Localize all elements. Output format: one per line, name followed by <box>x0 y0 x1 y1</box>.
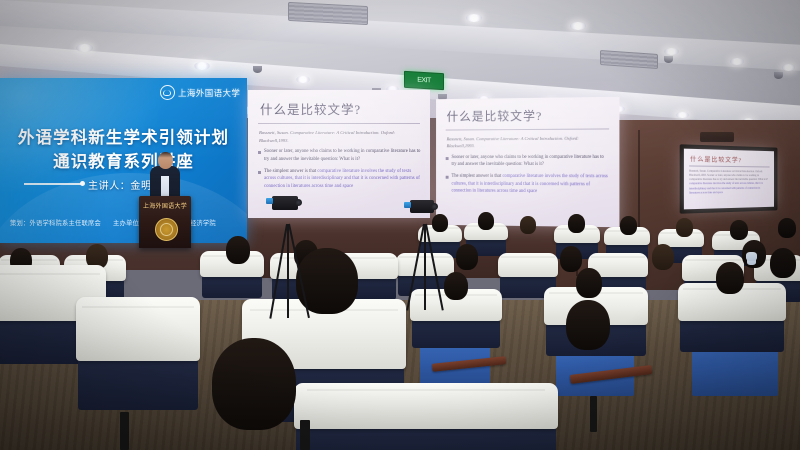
banner-footer-left: 策划：外语学科院系主任联席会 <box>10 218 101 227</box>
slide-citation: Bassnett, Susan. Comparative Literature:… <box>436 129 619 150</box>
downlight <box>570 22 586 30</box>
audience-head <box>520 216 536 234</box>
audience-head <box>226 236 250 264</box>
camera-screen <box>404 202 411 208</box>
downlight <box>664 48 679 55</box>
hvac-vent-right <box>600 50 658 69</box>
downlight <box>782 64 795 71</box>
slide-bullet-2: The simplest answer is that comparative … <box>248 164 430 191</box>
projection-screen-right: 什么是比较文学? Bassnett, Susan. Comparative Li… <box>436 97 619 227</box>
audience-head <box>620 216 637 235</box>
exit-sign: EXIT <box>404 71 444 90</box>
video-camera-right[interactable] <box>410 200 434 213</box>
audience-head <box>778 218 796 238</box>
slide-bullet-2-text: The simplest answer is that comparative … <box>264 168 421 191</box>
audience-head <box>676 218 693 237</box>
camera-tripod-left <box>276 206 316 316</box>
wall-monitor-screen: 什么是比较文学? Bassnett, Susan. Comparative Li… <box>684 149 774 210</box>
audience-head <box>652 244 674 270</box>
bullet-marker-icon <box>258 151 261 154</box>
monitor-mount <box>700 132 734 142</box>
camera-screen <box>266 198 273 204</box>
slide-bullet-2-text: The simplest answer is that comparative … <box>451 173 610 197</box>
camera-lens-icon <box>295 199 302 206</box>
downlight <box>296 76 310 83</box>
seat-near-right <box>680 286 784 352</box>
lectern-seal-icon <box>155 218 178 241</box>
banner-title-line-2: 通识教育系列讲座 <box>0 148 247 172</box>
slide-bullet-2-small: comparative literature involves the stud… <box>689 182 763 194</box>
banner-title-line-1: 外语学科新生学术引领计划 <box>0 124 247 148</box>
slide-bullet-1: Sooner or later, anyone who claims to be… <box>436 150 619 170</box>
slide-title: 什么是比较文学? <box>684 149 774 165</box>
stage-banner: 上海外国语大学 外语学科新生学术引领计划 通识教育系列讲座 主讲人：金明 策划：… <box>0 78 247 243</box>
seat-foreground <box>296 386 556 450</box>
audience-head <box>576 268 602 298</box>
lectern-nameplate-text: 上海外国语大学 <box>143 201 187 210</box>
lectern-nameplate: 上海外国语大学 <box>145 201 185 210</box>
banner-footer: 策划：外语学科院系主任联席会 主办单位：教 日本文化经济学院 <box>10 218 240 227</box>
slide-bullet-1-text: Sooner or later, anyone who claims to be… <box>451 154 610 169</box>
bullet-marker-icon <box>446 157 449 160</box>
slide-citation: Bassnett, Susan. Comparative Literature:… <box>248 124 430 144</box>
ceiling-speaker-1 <box>253 66 262 73</box>
slide-title: 什么是比较文学? <box>248 90 430 118</box>
university-name: 上海外国语大学 <box>178 87 240 99</box>
bullet-2-plain: The simplest answer is that <box>451 174 502 179</box>
lecture-hall-photo: EXIT 上海外国语大学 外语学科新生学术引领计划 通识教育系列讲座 主讲人：金… <box>0 0 800 450</box>
camera-tripod-right <box>414 208 450 308</box>
slide-title: 什么是比较文学? <box>436 97 619 125</box>
downlight <box>730 58 744 65</box>
audience-head <box>770 248 796 278</box>
seat-foreground <box>78 300 198 410</box>
audience-head <box>478 212 494 230</box>
seat-leg <box>590 396 597 432</box>
university-crest-icon <box>160 85 175 100</box>
speaker-head <box>158 152 173 169</box>
slide-bullet-2: The simplest answer is that comparative … <box>436 169 619 197</box>
audience-head <box>456 244 478 270</box>
downlight <box>466 14 482 22</box>
slide-bullet-1-text: Sooner or later, anyone who claims to be… <box>264 148 421 164</box>
exit-sign-label: EXIT <box>417 77 431 85</box>
video-camera-left[interactable] <box>272 196 298 210</box>
downlight <box>676 112 689 118</box>
ceiling-speaker-6 <box>774 72 783 79</box>
slide-body-text: Bassnett, Susan. Comparative Literature:… <box>684 166 774 198</box>
seat-leg <box>300 420 310 450</box>
audience-head-foreground <box>566 300 610 350</box>
bullet-2-plain: The simplest answer is that <box>264 169 317 174</box>
seat-leg <box>120 412 129 450</box>
downlight <box>194 62 210 70</box>
audience-head <box>568 214 585 233</box>
banner-divider <box>24 183 82 185</box>
face-mask <box>746 252 757 261</box>
audience-head <box>730 220 748 240</box>
bullet-marker-icon <box>258 171 261 174</box>
lectern: 上海外国语大学 <box>139 196 191 248</box>
audience-head <box>560 246 582 272</box>
audience-head <box>716 262 744 294</box>
banner-host-label: 主讲人：金明 <box>88 177 152 192</box>
slide-bullet-1: Sooner or later, anyone who claims to be… <box>248 144 430 164</box>
downlight <box>76 44 93 52</box>
bullet-marker-icon <box>446 176 449 179</box>
university-logo: 上海外国语大学 <box>160 85 240 100</box>
camera-lens-icon <box>431 203 438 210</box>
audience-head-foreground <box>212 338 296 430</box>
ceiling-speaker-5 <box>664 56 673 63</box>
